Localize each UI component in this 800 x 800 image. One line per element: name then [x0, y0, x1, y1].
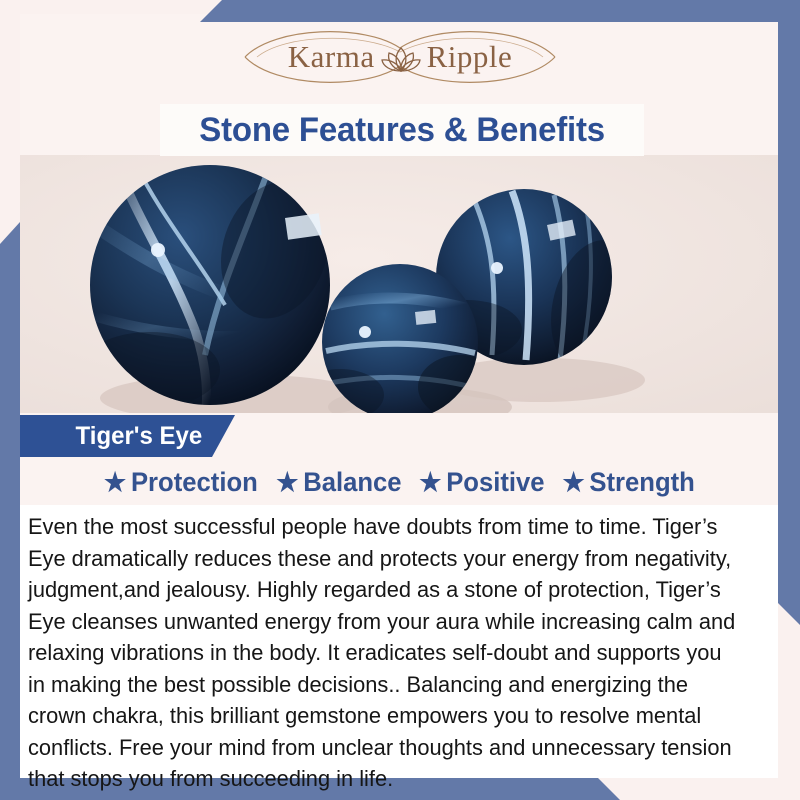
brand-name-left: Karma [288, 39, 375, 75]
brand-name-right: Ripple [427, 39, 513, 75]
frame-right-accent [778, 0, 800, 625]
star-icon: ★ [419, 469, 441, 495]
brand-logo: Karma Ripple [0, 22, 800, 92]
stone-name-banner: Tiger's Eye [20, 415, 235, 457]
stone-name: Tiger's Eye [24, 422, 203, 451]
benefits-list: ★ Protection ★ Balance ★ Positive ★ Stre… [20, 462, 778, 502]
benefit-label: Positive [446, 467, 544, 498]
frame-top-accent [200, 0, 800, 22]
benefit-item-protection: ★ Protection [104, 467, 258, 498]
stone-photo [20, 155, 778, 413]
infographic-page: Karma Ripple [0, 0, 800, 800]
page-title-banner: Stone Features & Benefits [160, 104, 644, 156]
star-icon: ★ [562, 469, 584, 495]
benefit-label: Protection [131, 467, 258, 498]
frame-left-accent [0, 222, 20, 800]
description-block: Even the most successful people have dou… [20, 505, 778, 778]
star-icon: ★ [104, 469, 126, 495]
lotus-icon [381, 45, 421, 73]
page-title: Stone Features & Benefits [199, 111, 605, 150]
description-text: Even the most successful people have dou… [28, 511, 736, 795]
benefit-item-positive: ★ Positive [419, 467, 544, 498]
benefit-label: Balance [303, 467, 401, 498]
benefit-item-balance: ★ Balance [276, 467, 401, 498]
star-icon: ★ [276, 469, 298, 495]
benefit-label: Strength [589, 467, 694, 498]
benefit-item-strength: ★ Strength [562, 467, 694, 498]
